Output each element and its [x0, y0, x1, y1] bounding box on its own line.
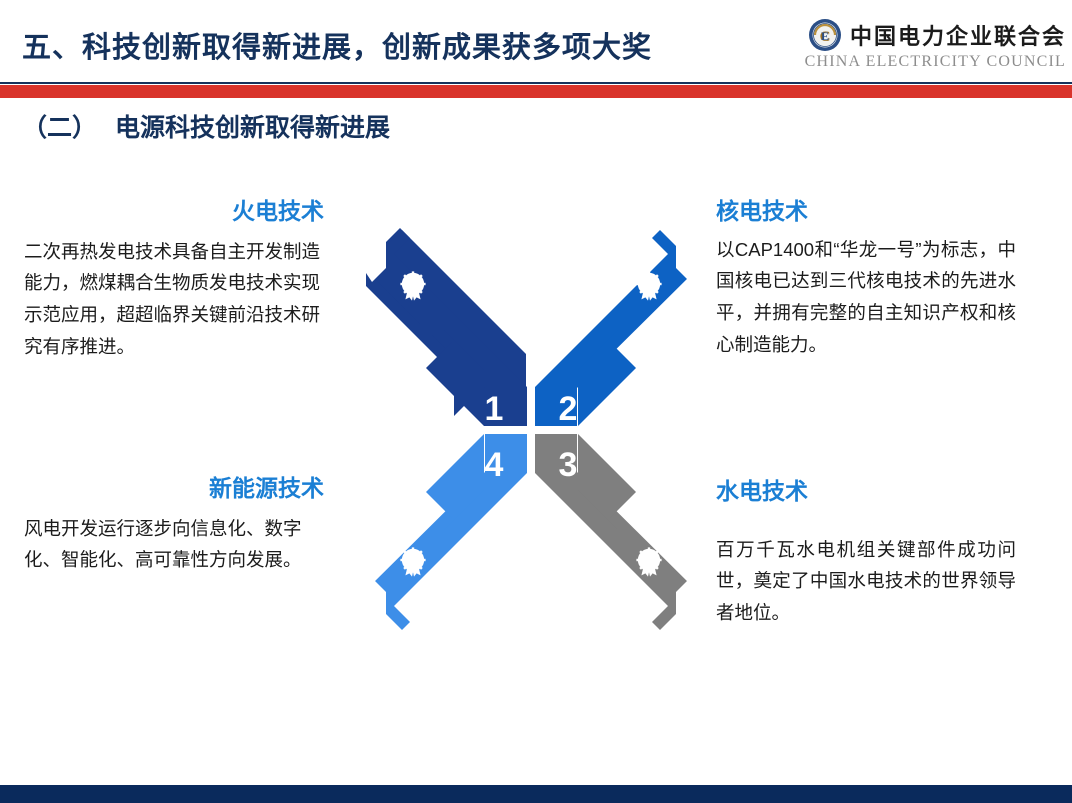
slide-canvas: 五、科技创新取得新进展，创新成果获多项大奖 C E 中国电力企业联合会 CHIN…	[0, 0, 1072, 803]
quadrant-nuclear-title: 核电技术	[716, 198, 1016, 226]
arrow-1: 1	[366, 228, 527, 428]
logo-chinese-name: 中国电力企业联合会	[850, 19, 1066, 51]
x-arrow-diagram: 1 2 3	[366, 228, 696, 632]
section-heading: （二）电源科技创新取得新进展	[22, 108, 390, 144]
quadrant-nuclear-body: 以CAP1400和“华龙一号”为标志，中国核电已达到三代核电技术的先进水平，并拥…	[716, 234, 1016, 361]
svg-text:E: E	[821, 29, 829, 43]
quadrant-hydro: 水电技术 百万千瓦水电机组关键部件成功问世，奠定了中国水电技术的世界领导者地位。	[716, 478, 1016, 629]
arrow-3: 3	[535, 434, 696, 630]
footer-bar	[0, 785, 1072, 803]
arrow-3-number: 3	[559, 446, 578, 484]
quadrant-newenergy-title: 新能源技术	[24, 475, 324, 503]
slide-header: 五、科技创新取得新进展，创新成果获多项大奖 C E 中国电力企业联合会 CHIN…	[0, 0, 1072, 86]
quadrant-hydro-body: 百万千瓦水电机组关键部件成功问世，奠定了中国水电技术的世界领导者地位。	[716, 534, 1016, 629]
quadrant-newenergy-body: 风电开发运行逐步向信息化、数字化、智能化、高可靠性方向发展。	[24, 513, 324, 577]
page-title: 五、科技创新取得新进展，创新成果获多项大奖	[22, 24, 652, 66]
arrow-2-number: 2	[559, 390, 578, 428]
header-navy-rule	[0, 82, 1072, 84]
logo-english-name: CHINA ELECTRICITY COUNCIL	[805, 53, 1066, 71]
section-title: 电源科技创新取得新进展	[115, 114, 390, 142]
arrow-4-number: 4	[485, 446, 504, 484]
arrow-2: 2	[535, 230, 696, 428]
cec-emblem-icon: C E	[808, 18, 842, 52]
quadrant-hydro-title: 水电技术	[716, 478, 1016, 506]
quadrant-thermal: 火电技术 二次再热发电技术具备自主开发制造能力，燃煤耦合生物质发电技术实现示范应…	[24, 198, 324, 363]
quadrant-thermal-body: 二次再热发电技术具备自主开发制造能力，燃煤耦合生物质发电技术实现示范应用，超超临…	[24, 236, 324, 363]
arrow-1-number: 1	[485, 390, 504, 428]
organization-logo: C E 中国电力企业联合会 CHINA ELECTRICITY COUNCIL	[805, 18, 1066, 71]
quadrant-nuclear: 核电技术 以CAP1400和“华龙一号”为标志，中国核电已达到三代核电技术的先进…	[716, 198, 1016, 361]
quadrant-thermal-title: 火电技术	[24, 198, 324, 226]
section-number: （二）	[22, 114, 97, 142]
arrow-4: 4	[366, 434, 527, 630]
quadrant-newenergy: 新能源技术 风电开发运行逐步向信息化、数字化、智能化、高可靠性方向发展。	[24, 475, 324, 576]
header-red-rule	[0, 85, 1072, 98]
